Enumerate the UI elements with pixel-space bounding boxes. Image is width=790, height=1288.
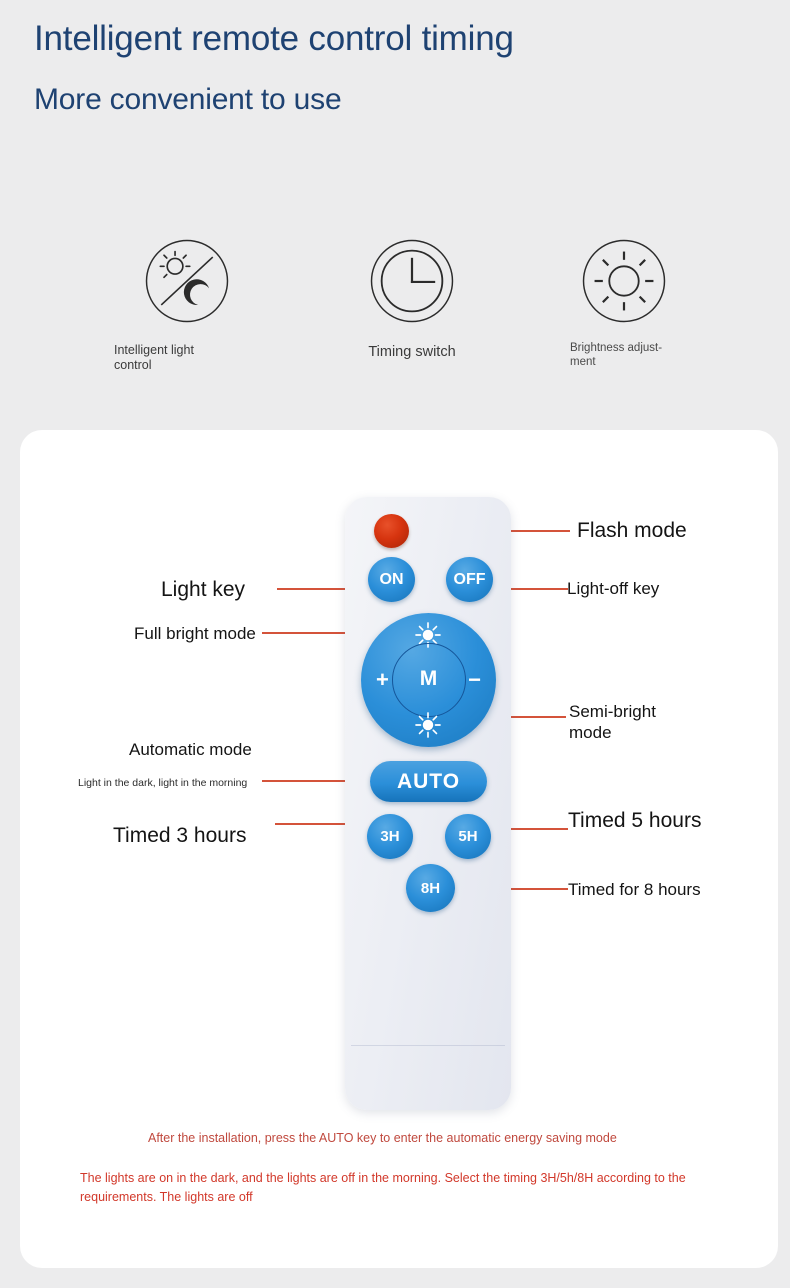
page-header: Intelligent remote control timing More c… xyxy=(34,18,594,118)
feature-intelligent-light-control: Intelligent light control xyxy=(62,235,312,373)
annotation-timed-3-hours: Timed 3 hours xyxy=(113,823,246,848)
caption-auto-key: After the installation, press the AUTO k… xyxy=(148,1128,672,1148)
feature-label: Intelligent light control xyxy=(114,343,224,373)
feature-label: Brightness adjust-ment xyxy=(570,341,678,369)
annotation-timed-8-hours: Timed for 8 hours xyxy=(568,879,701,900)
feature-row: Intelligent light control Timing switch xyxy=(0,235,790,373)
annotation-automatic-note: Light in the dark, light in the morning xyxy=(78,777,247,790)
caption-timing-instructions: The lights are on in the dark, and the l… xyxy=(80,1169,712,1207)
minus-button[interactable]: − xyxy=(468,667,481,693)
page-title: Intelligent remote control timing xyxy=(34,18,594,60)
timer-5h-button[interactable]: 5H xyxy=(445,814,491,859)
off-button[interactable]: OFF xyxy=(446,557,493,602)
brightness-dial[interactable]: M + − xyxy=(361,613,496,747)
clock-icon xyxy=(366,235,458,327)
brightness-sun-icon xyxy=(578,235,670,327)
on-button[interactable]: ON xyxy=(368,557,415,602)
auto-button[interactable]: AUTO xyxy=(370,761,487,802)
feature-label: Timing switch xyxy=(312,345,512,360)
remote-seam-line xyxy=(351,1045,505,1046)
annotation-flash-mode: Flash mode xyxy=(577,518,687,543)
feature-brightness-adjustment: Brightness adjust-ment xyxy=(524,235,724,373)
plus-button[interactable]: + xyxy=(376,667,389,693)
annotation-full-bright-mode: Full bright mode xyxy=(134,623,256,644)
annotation-light-key: Light key xyxy=(161,577,245,602)
timer-8h-button[interactable]: 8H xyxy=(406,864,455,912)
timer-3h-button[interactable]: 3H xyxy=(367,814,413,859)
annotation-light-off-key: Light-off key xyxy=(567,578,659,599)
flash-mode-button[interactable] xyxy=(374,514,409,548)
annotation-timed-5-hours: Timed 5 hours xyxy=(568,808,701,833)
page-subtitle: More convenient to use xyxy=(34,82,594,118)
feature-timing-switch: Timing switch xyxy=(312,235,512,373)
annotation-semi-bright-mode: Semi-bright mode xyxy=(569,701,681,743)
annotation-automatic-mode: Automatic mode xyxy=(129,739,252,760)
sun-moon-icon xyxy=(141,235,233,327)
remote-control-device: ON OFF M + − xyxy=(345,497,511,1110)
semi-bright-sun-icon xyxy=(413,710,443,740)
